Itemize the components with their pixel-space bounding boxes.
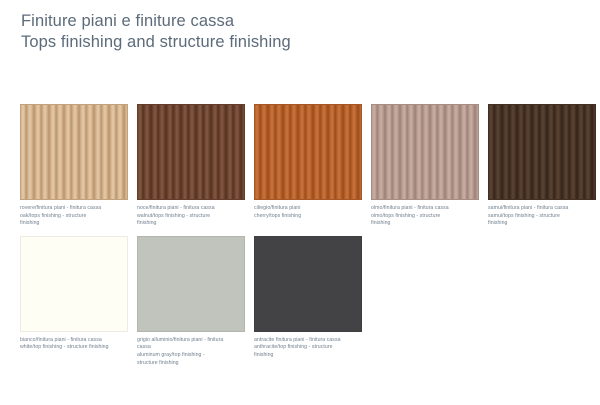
swatch-caption-rovere-oak: rovere/finitura piani - finitura cassaoa… (20, 205, 128, 228)
swatch-caption-line: bianco/finitura piani - finitura cassa (20, 337, 128, 345)
swatch-caption-line: oak/tops finishing - structure (20, 213, 128, 221)
swatch-cell-noce-walnut[interactable]: noce/finitura piani - finitura cassawaln… (137, 104, 245, 228)
swatch-tile-noce-walnut[interactable] (137, 104, 245, 200)
wood-grain-texture (372, 105, 478, 199)
swatch-cell-grigio-alluminio-aluminum-gray[interactable]: grigio alluminio/finitura piani - finitu… (137, 236, 245, 367)
swatch-caption-line: aluminum gray/top finishing - (137, 352, 245, 360)
swatch-caption-line: samui/finitura piani - finitura cassa (488, 205, 596, 213)
page-title-italian: Finiture piani e finiture cassa (21, 11, 291, 32)
page-title-english: Tops finishing and structure finishing (21, 32, 291, 53)
swatch-cell-rovere-oak[interactable]: rovere/finitura piani - finitura cassaoa… (20, 104, 128, 228)
swatch-cell-ciliegio-cherry[interactable]: ciliegio/finitura pianicherry/tops finis… (254, 104, 362, 220)
swatch-caption-line: ciliegio/finitura piani (254, 205, 362, 213)
swatch-caption-line: rovere/finitura piani - finitura cassa (20, 205, 128, 213)
swatch-caption-samui: samui/finitura piani - finitura cassasam… (488, 205, 596, 228)
wood-grain-texture (255, 105, 361, 199)
swatch-caption-grigio-alluminio-aluminum-gray: grigio alluminio/finitura piani - finitu… (137, 337, 245, 367)
swatch-cell-samui[interactable]: samui/finitura piani - finitura cassasam… (488, 104, 596, 228)
swatch-caption-line: noce/finitura piani - finitura cassa (137, 205, 245, 213)
swatch-caption-line: finishing (371, 220, 479, 228)
swatch-caption-line: structure finishing (137, 360, 245, 368)
swatch-row: bianco/finitura piani - finitura cassawh… (20, 236, 590, 367)
swatch-row: rovere/finitura piani - finitura cassaoa… (20, 104, 590, 228)
wood-grain-texture (21, 105, 127, 199)
swatch-tile-ciliegio-cherry[interactable] (254, 104, 362, 200)
swatch-tile-antracite-anthracite[interactable] (254, 236, 362, 332)
swatch-caption-line: walnut/tops finishing - structure (137, 213, 245, 221)
swatch-caption-antracite-anthracite: antracite finitura piani - finitura cass… (254, 337, 362, 360)
swatch-caption-line: grigio alluminio/finitura piani - finitu… (137, 337, 245, 345)
page-title: Finiture piani e finiture cassa Tops fin… (21, 11, 291, 53)
swatch-caption-line: anthracite/top finishing - structure (254, 344, 362, 352)
swatch-caption-line: finishing (254, 352, 362, 360)
swatch-caption-line: cassa (137, 344, 245, 352)
swatch-tile-olmo-elm[interactable] (371, 104, 479, 200)
swatch-caption-line: finishing (137, 220, 245, 228)
swatch-tile-grigio-alluminio-aluminum-gray[interactable] (137, 236, 245, 332)
swatch-tile-rovere-oak[interactable] (20, 104, 128, 200)
swatch-caption-noce-walnut: noce/finitura piani - finitura cassawaln… (137, 205, 245, 228)
swatch-caption-line: olmo/finitura piani - finitura cassa (371, 205, 479, 213)
swatch-cell-antracite-anthracite[interactable]: antracite finitura piani - finitura cass… (254, 236, 362, 360)
swatch-caption-olmo-elm: olmo/finitura piani - finitura cassaolmo… (371, 205, 479, 228)
swatch-caption-line: antracite finitura piani - finitura cass… (254, 337, 362, 345)
wood-grain-texture (489, 105, 595, 199)
swatch-caption-ciliegio-cherry: ciliegio/finitura pianicherry/tops finis… (254, 205, 362, 220)
swatch-tile-bianco-white[interactable] (20, 236, 128, 332)
swatch-tile-samui[interactable] (488, 104, 596, 200)
swatch-caption-line: olmo/tops finishing - structure (371, 213, 479, 221)
swatch-caption-line: samui/tops finishing - structure (488, 213, 596, 221)
swatch-caption-line: white/top finishing - structure finishin… (20, 344, 128, 352)
wood-grain-texture (138, 105, 244, 199)
swatch-cell-bianco-white[interactable]: bianco/finitura piani - finitura cassawh… (20, 236, 128, 352)
swatch-cell-olmo-elm[interactable]: olmo/finitura piani - finitura cassaolmo… (371, 104, 479, 228)
swatch-caption-line: cherry/tops finishing (254, 213, 362, 221)
swatch-caption-line: finishing (488, 220, 596, 228)
swatch-caption-line: finishing (20, 220, 128, 228)
swatch-caption-bianco-white: bianco/finitura piani - finitura cassawh… (20, 337, 128, 352)
finish-swatch-grid: rovere/finitura piani - finitura cassaoa… (20, 104, 590, 367)
